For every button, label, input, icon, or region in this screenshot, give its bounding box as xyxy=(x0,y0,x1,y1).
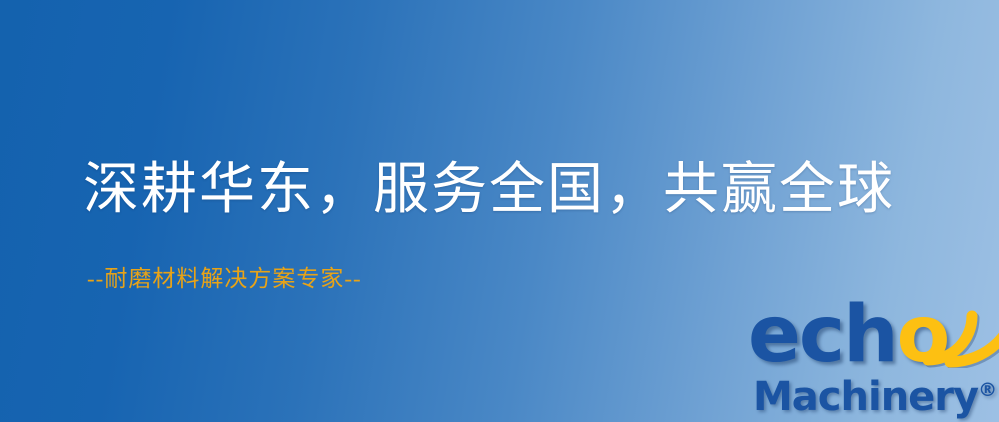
registered-trademark-icon: ® xyxy=(978,379,997,401)
logo-wordmark: echo xyxy=(748,296,948,374)
banner-headline: 深耕华东，服务全国，共赢全球 xyxy=(83,158,895,222)
logo-tagline: Machinery® xyxy=(753,368,997,419)
logo-tagline-text: Machinery xyxy=(753,374,978,420)
logo-wordmark-ech: ech xyxy=(748,290,897,380)
banner-subtitle: --耐磨材料解决方案专家-- xyxy=(87,264,362,294)
logo-wordmark-o: o xyxy=(897,290,949,380)
echo-machinery-logo: echo Machinery® xyxy=(744,296,999,422)
hero-banner: 深耕华东，服务全国，共赢全球 --耐磨材料解决方案专家-- echo Machi… xyxy=(0,0,999,422)
